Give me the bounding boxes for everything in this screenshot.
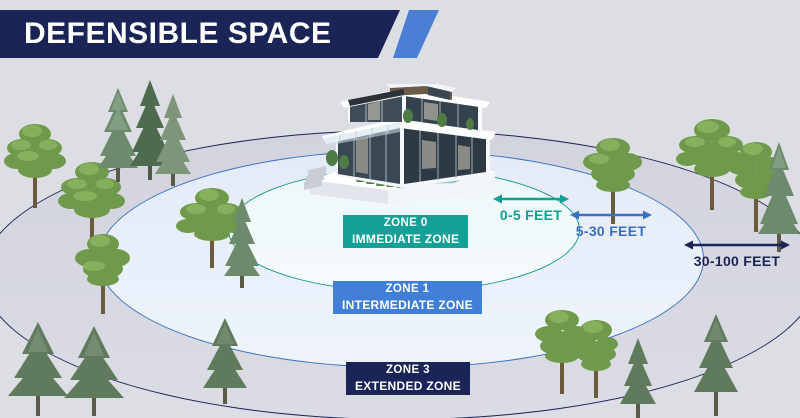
measure-30-100-label: 30-100 FEET: [682, 253, 792, 269]
tree-right-3: [756, 140, 800, 252]
double-arrow-icon: [491, 192, 571, 206]
double-arrow-icon: [682, 238, 792, 252]
banner-accent-stripe: [393, 10, 439, 58]
zone-3-subtitle: EXTENDED ZONE: [346, 378, 470, 395]
measure-0-5: 0-5 FEET: [491, 192, 571, 223]
tree-bottom-3: [690, 312, 742, 416]
zone-0-subtitle: IMMEDIATE ZONE: [343, 231, 468, 248]
zone-3-label: ZONE 3 EXTENDED ZONE: [346, 362, 470, 395]
tree-left-4: [0, 320, 150, 418]
measure-0-5-label: 0-5 FEET: [491, 207, 571, 223]
measure-30-100: 30-100 FEET: [682, 238, 792, 269]
zone-1-label: ZONE 1 INTERMEDIATE ZONE: [333, 281, 482, 314]
zone-0-label: ZONE 0 IMMEDIATE ZONE: [343, 215, 468, 248]
house-illustration: [292, 84, 502, 208]
infographic-canvas: 0-5 FEET 5-30 FEET 30-100 FEET ZONE 0 IM…: [0, 0, 800, 418]
zone-0-title: ZONE 0: [343, 215, 468, 231]
measure-5-30-label: 5-30 FEET: [568, 223, 654, 239]
tree-left-3: [72, 222, 134, 314]
title-banner: DEFENSIBLE SPACE: [0, 10, 450, 58]
zone-1-title: ZONE 1: [333, 281, 482, 297]
tree-bottom-1: [198, 316, 252, 404]
zone-3-title: ZONE 3: [346, 362, 470, 378]
zone-1-subtitle: INTERMEDIATE ZONE: [333, 297, 482, 314]
tree-conifer-3: [152, 92, 194, 186]
tree-conifer-4: [222, 196, 262, 288]
tree-right-4: [616, 336, 660, 418]
tree-bottom-2: [534, 296, 618, 400]
double-arrow-icon: [568, 208, 654, 222]
measure-5-30: 5-30 FEET: [568, 208, 654, 239]
page-title: DEFENSIBLE SPACE: [24, 10, 332, 58]
tree-left-1: [4, 112, 66, 208]
